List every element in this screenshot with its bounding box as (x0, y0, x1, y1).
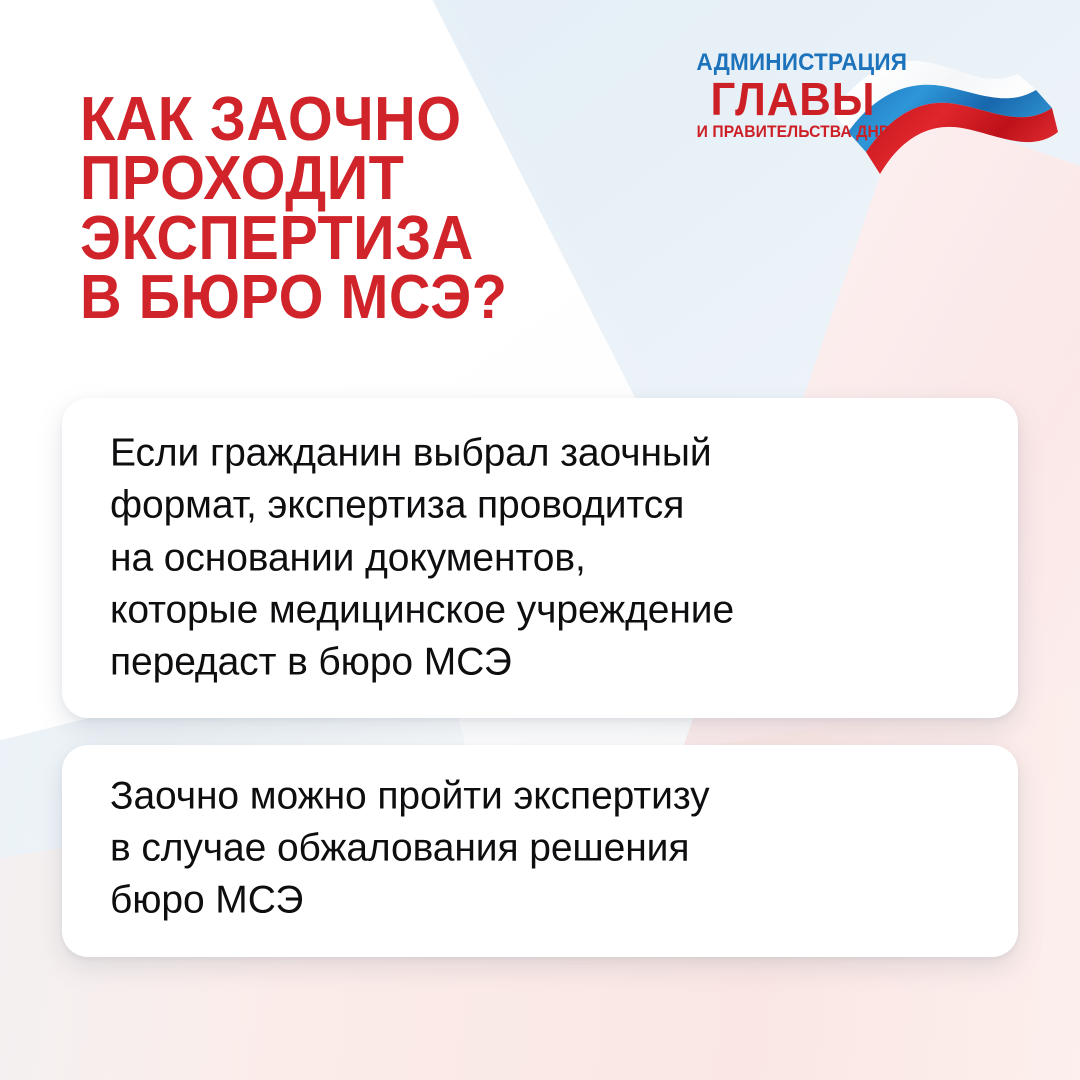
info-card-1: Если гражданин выбрал заочный формат, эк… (62, 398, 1018, 718)
logo-line-government: И ПРАВИТЕЛЬСТВА ДНР (696, 122, 889, 142)
page-title: КАК ЗАОЧНО ПРОХОДИТ ЭКСПЕРТИЗА В БЮРО МС… (80, 90, 601, 328)
page-title-line-3: ЭКСПЕРТИЗА (80, 209, 601, 269)
info-card-1-line-5: передаст в бюро МСЭ (110, 636, 984, 688)
page-title-line-1: КАК ЗАОЧНО (80, 90, 601, 150)
info-card-1-line-4: которые медицинское учреждение (110, 584, 984, 636)
page-title-line-4: В БЮРО МСЭ? (80, 268, 601, 328)
info-card-2-line-3: бюро МСЭ (110, 875, 984, 927)
info-card-1-line-3: на основании документов, (110, 532, 984, 584)
infographic-poster: КАК ЗАОЧНО ПРОХОДИТ ЭКСПЕРТИЗА В БЮРО МС… (0, 0, 1080, 1080)
logo-text-block: АДМИНИСТРАЦИЯ ГЛАВЫ И ПРАВИТЕЛЬСТВА ДНР (688, 50, 898, 141)
info-card-2-line-2: в случае обжалования решения (110, 823, 984, 875)
info-card-1-line-1: Если гражданин выбрал заочный (110, 427, 984, 479)
info-card-2-text: Заочно можно пройти экспертизу в случае … (110, 771, 984, 928)
info-card-2: Заочно можно пройти экспертизу в случае … (62, 745, 1018, 957)
info-card-1-text: Если гражданин выбрал заочный формат, эк… (110, 427, 984, 688)
organisation-logo: АДМИНИСТРАЦИЯ ГЛАВЫ И ПРАВИТЕЛЬСТВА ДНР (688, 50, 1058, 190)
info-card-2-line-1: Заочно можно пройти экспертизу (110, 771, 984, 823)
logo-line-head: ГЛАВЫ (693, 76, 893, 122)
page-title-line-2: ПРОХОДИТ (80, 149, 601, 209)
info-card-1-line-2: формат, экспертиза проводится (110, 480, 984, 532)
